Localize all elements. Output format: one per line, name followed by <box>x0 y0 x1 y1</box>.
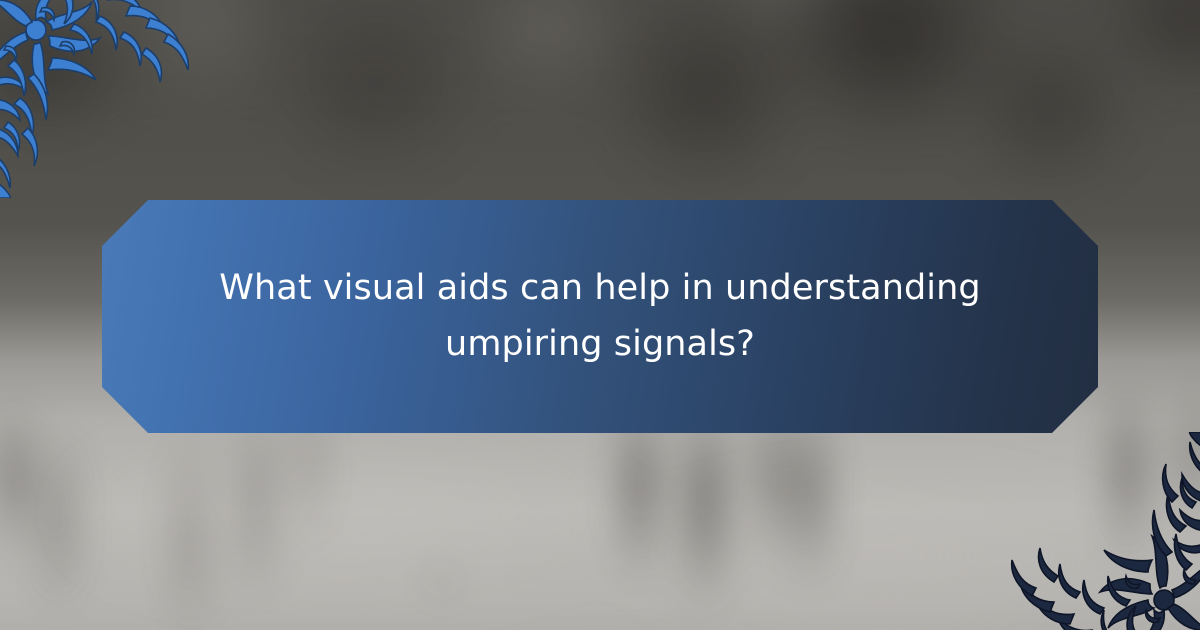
question-text: What visual aids can help in understandi… <box>102 261 1098 372</box>
question-banner: What visual aids can help in understandi… <box>102 200 1098 433</box>
question-card: What visual aids can help in understandi… <box>0 0 1200 630</box>
